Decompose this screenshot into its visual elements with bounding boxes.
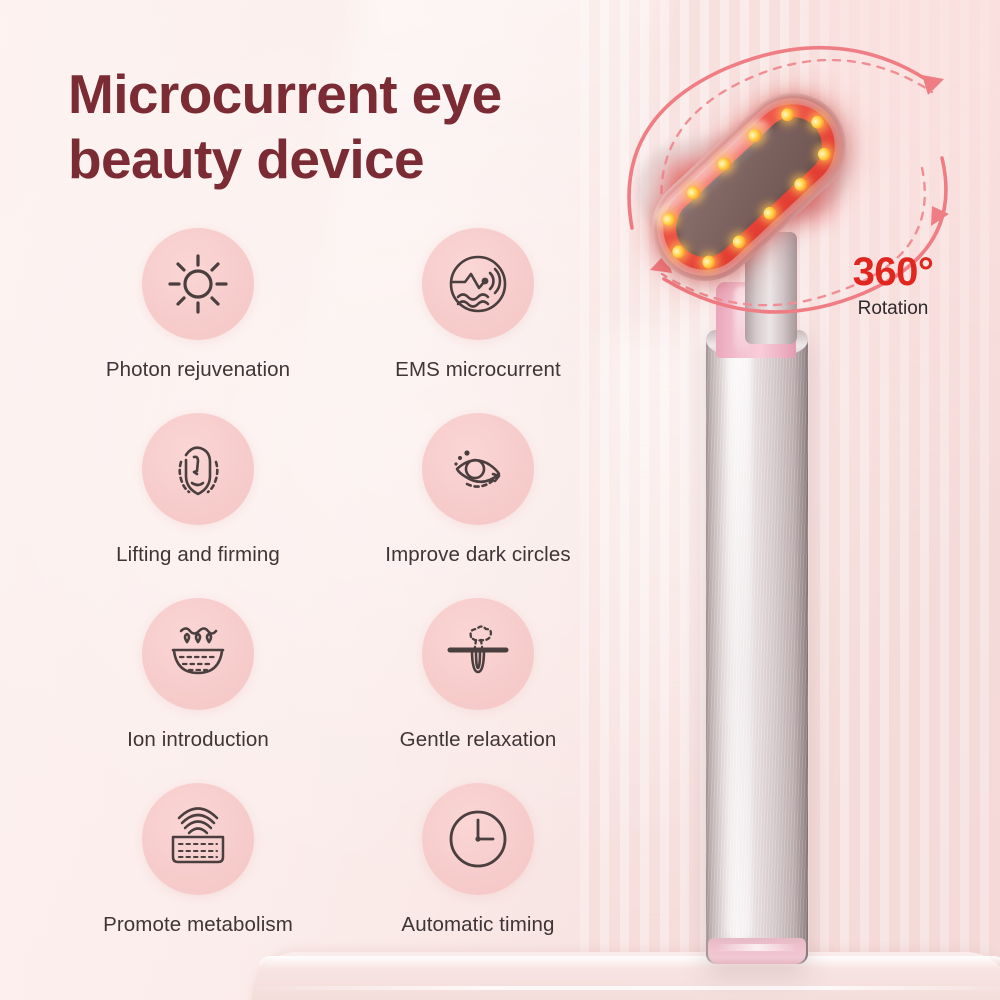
feature-item-photon-rejuvenation: Photon rejuvenation [58,228,338,413]
clock-icon [446,807,510,871]
page-title-line-1: Microcurrent eye [68,63,502,125]
feature-item-promote-metabolism: Promote metabolism [58,783,338,968]
feature-label: Ion introduction [127,728,269,752]
feature-label: Improve dark circles [385,543,570,567]
feature-badge [142,598,254,710]
feature-badge [422,228,534,340]
sun-icon [166,252,230,316]
feature-badge [422,413,534,525]
feature-item-automatic-timing: Automatic timing [338,783,618,968]
feature-item-lifting-and-firming: Lifting and firming [58,413,338,598]
feature-badge [142,228,254,340]
feature-grid: Photon rejuvenation EMS microcurrent [58,228,618,968]
feature-row-1: Photon rejuvenation EMS microcurrent [58,228,618,413]
page-title: Microcurrent eye beauty device [68,62,668,192]
ems-wave-icon [446,252,510,316]
feature-badge [422,598,534,710]
feature-item-ems-microcurrent: EMS microcurrent [338,228,618,413]
feature-item-gentle-relaxation: Gentle relaxation [338,598,618,783]
feature-item-improve-dark-circles: Improve dark circles [338,413,618,598]
face-lift-icon [166,437,230,501]
feature-label: EMS microcurrent [395,358,561,382]
feature-badge [142,783,254,895]
feature-item-ion-introduction: Ion introduction [58,598,338,783]
pore-steam-icon [445,622,511,686]
feature-row-3: Ion introduction Gentle rel [58,598,618,783]
feature-label: Lifting and firming [116,543,280,567]
feature-row-4: Promote metabolism Automatic timing [58,783,618,968]
water-drop-skin-icon [165,623,231,685]
shelf-edge [252,986,1000,990]
feature-row-2: Lifting and firming Improve dark circles [58,413,618,598]
feature-label: Photon rejuvenation [106,358,290,382]
product-marketing-image: Microcurrent eye beauty device [0,0,1000,1000]
feature-label: Automatic timing [401,913,554,937]
feature-label: Promote metabolism [103,913,293,937]
feature-badge [142,413,254,525]
feature-badge [422,783,534,895]
feature-label: Gentle relaxation [400,728,557,752]
eye-icon [445,436,511,502]
page-title-line-2: beauty device [68,127,668,192]
skin-layer-waves-icon [165,807,231,871]
